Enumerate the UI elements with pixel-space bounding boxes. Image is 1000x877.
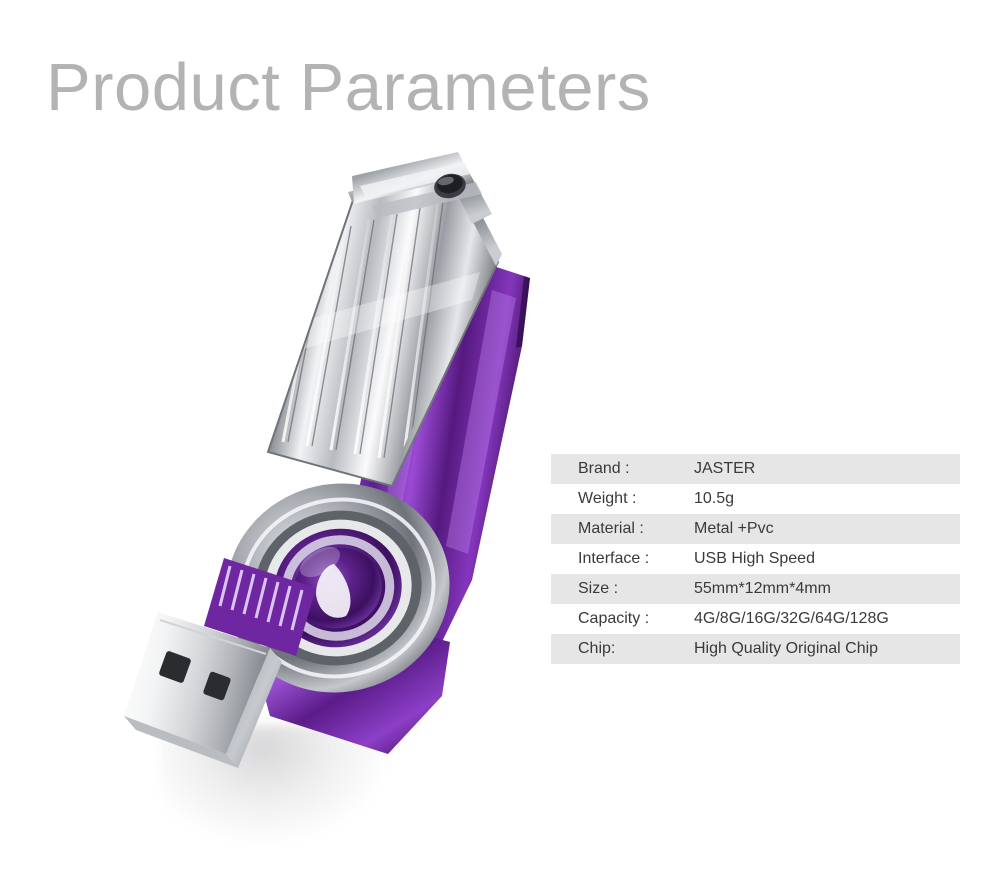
table-row: Interface : USB High Speed (551, 544, 960, 574)
spec-value: 55mm*12mm*4mm (675, 580, 960, 598)
spec-label: Weight : (551, 490, 675, 508)
table-row: Size : 55mm*12mm*4mm (551, 574, 960, 604)
spec-value: Metal +Pvc (675, 520, 960, 538)
spec-value: JASTER (675, 460, 960, 478)
spec-value: 10.5g (675, 490, 960, 508)
spec-label: Capacity : (551, 610, 675, 628)
table-row: Material : Metal +Pvc (551, 514, 960, 544)
table-row: Brand : JASTER (551, 454, 960, 484)
spec-label: Chip: (551, 640, 675, 658)
spec-value: USB High Speed (675, 550, 960, 568)
table-row: Capacity : 4G/8G/16G/32G/64G/128G (551, 604, 960, 634)
table-row: Weight : 10.5g (551, 484, 960, 514)
product-image (120, 150, 580, 810)
spec-value: 4G/8G/16G/32G/64G/128G (675, 610, 960, 628)
spec-label: Material : (551, 520, 675, 538)
page-title: Product Parameters (46, 54, 651, 121)
table-row: Chip: High Quality Original Chip (551, 634, 960, 664)
spec-label: Brand : (551, 460, 675, 478)
spec-value: High Quality Original Chip (675, 640, 960, 658)
product-spec-table: Brand : JASTER Weight : 10.5g Material :… (551, 454, 960, 664)
spec-label: Size : (551, 580, 675, 598)
usb-flash-drive-illustration (120, 150, 580, 810)
spec-label: Interface : (551, 550, 675, 568)
